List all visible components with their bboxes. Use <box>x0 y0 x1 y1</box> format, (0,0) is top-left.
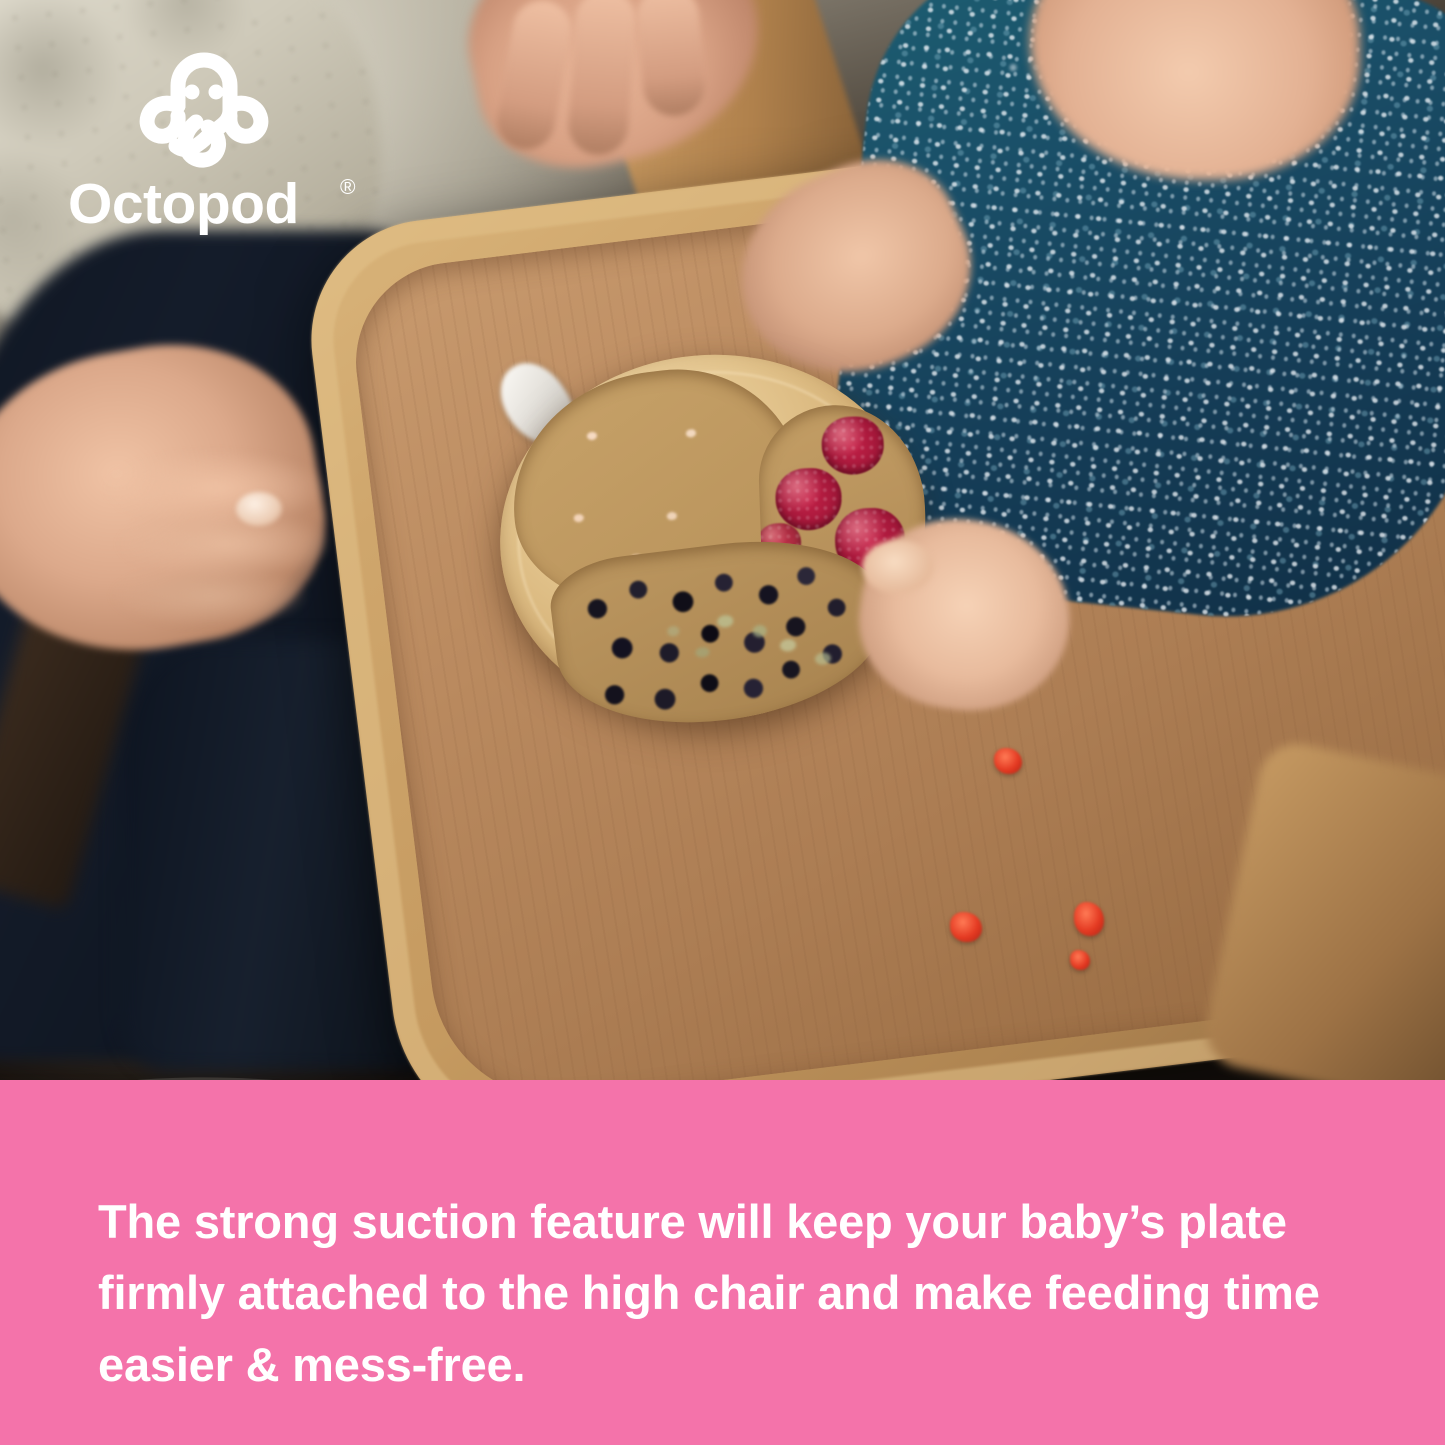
brand-logo: Octopod ® <box>68 48 388 253</box>
adult-hand-left-fingers <box>60 440 360 640</box>
food-crumb <box>1070 950 1090 970</box>
adult-finger <box>566 0 637 157</box>
caption-text: The strong suction feature will keep you… <box>98 1186 1378 1400</box>
caption-line-3: easier & mess-free. <box>98 1329 1378 1400</box>
product-lifestyle-card: Octopod ® The strong suction feature wil… <box>0 0 1445 1445</box>
caption-line-2: firmly attached to the high chair and ma… <box>98 1257 1378 1328</box>
child-thumb <box>862 540 934 594</box>
lifestyle-photo: Octopod ® <box>0 0 1445 1150</box>
adult-fingernail <box>236 492 282 526</box>
raspberry <box>821 416 885 476</box>
brand-wordmark: Octopod <box>68 176 368 233</box>
registered-trademark-symbol: ® <box>340 176 355 200</box>
octopus-logo-icon <box>138 48 270 178</box>
food-crumb <box>950 912 982 942</box>
raspberry <box>775 467 843 531</box>
caption-line-1: The strong suction feature will keep you… <box>98 1186 1378 1257</box>
food-crumb <box>994 748 1022 774</box>
food-crumb <box>1074 902 1104 936</box>
